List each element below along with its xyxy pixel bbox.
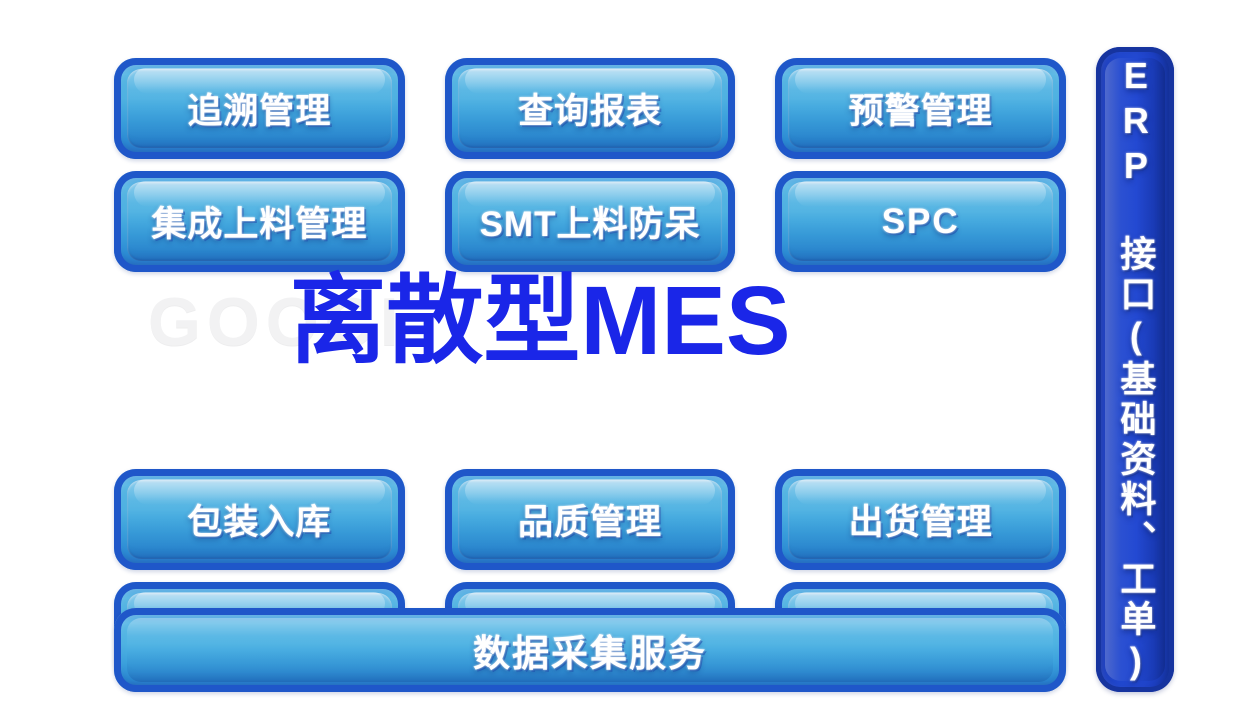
module-row: 包装入库 品质管理 出货管理 [114, 469, 1066, 570]
module-button-alert-management[interactable]: 预警管理 [775, 58, 1066, 159]
erp-interface-sidebar[interactable]: ERP 接口(基础资料、工单) [1096, 47, 1174, 692]
module-row: 集成上料管理 SMT上料防呆 SPC [114, 171, 1066, 272]
module-button-label: SPC [882, 202, 960, 242]
module-button-label: 品质管理 [518, 494, 662, 545]
module-button-label: SMT上料防呆 [480, 196, 701, 247]
erp-interface-label: ERP 接口(基础资料、工单) [1117, 55, 1154, 685]
module-button-integrated-feeding[interactable]: 集成上料管理 [114, 171, 405, 272]
module-button-label: 预警管理 [849, 83, 993, 134]
module-button-label: 查询报表 [518, 83, 662, 134]
diagram-canvas: GOOCI 追溯管理 查询报表 预警管理 集成上料管理 SMT上料防呆 SPC [0, 0, 1242, 711]
module-button-label: 出货管理 [849, 494, 993, 545]
center-title-spacer [114, 284, 1066, 469]
module-grid: 追溯管理 查询报表 预警管理 集成上料管理 SMT上料防呆 SPC 包装入库 [114, 58, 1066, 695]
module-button-shipment-management[interactable]: 出货管理 [775, 469, 1066, 570]
data-collection-service-bar[interactable]: 数据采集服务 [114, 608, 1066, 692]
module-button-label: 追溯管理 [187, 83, 331, 134]
module-button-smt-feeding-mistakeproof[interactable]: SMT上料防呆 [445, 171, 736, 272]
module-button-query-report[interactable]: 查询报表 [445, 58, 736, 159]
module-button-spc[interactable]: SPC [775, 171, 1066, 272]
module-button-packaging-warehousing[interactable]: 包装入库 [114, 469, 405, 570]
module-button-traceability[interactable]: 追溯管理 [114, 58, 405, 159]
module-button-quality-management[interactable]: 品质管理 [445, 469, 736, 570]
data-collection-service-label: 数据采集服务 [473, 623, 707, 677]
module-row: 追溯管理 查询报表 预警管理 [114, 58, 1066, 159]
module-button-label: 包装入库 [187, 494, 331, 545]
module-button-label: 集成上料管理 [151, 196, 367, 247]
